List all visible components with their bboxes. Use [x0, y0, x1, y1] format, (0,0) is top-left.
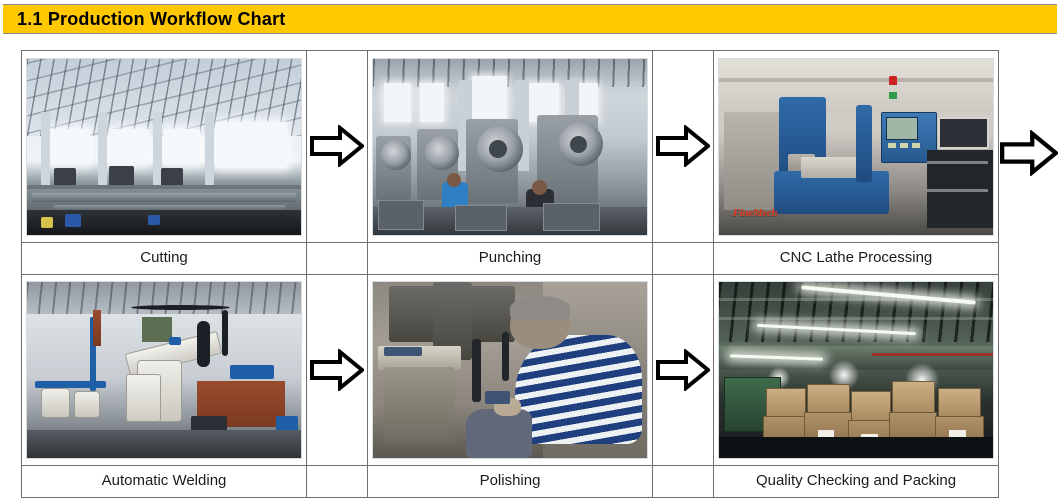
section-title-banner: 1.1 Production Workflow Chart: [3, 4, 1057, 34]
arrow-cell-3: [307, 274, 368, 466]
machine-guard: [856, 105, 872, 182]
machine-brand-logo: FineMech: [733, 207, 778, 219]
arrow-cell-4: [653, 274, 714, 466]
rack-shelf: [927, 189, 987, 192]
step-caption: Cutting: [22, 246, 306, 271]
flow-arrow-4: [653, 275, 713, 466]
column: [205, 112, 214, 186]
table-row: [22, 274, 999, 466]
window: [49, 129, 90, 164]
wall: [719, 59, 993, 112]
step-caption: CNC Lathe Processing: [714, 246, 998, 271]
equipment-frame: [35, 381, 106, 388]
right-block-arrow-icon: [656, 349, 710, 391]
arrow-cell-2: [653, 51, 714, 243]
photo-cell-packing: [714, 274, 999, 466]
floor-line: [27, 185, 301, 189]
step-caption: Polishing: [368, 469, 652, 494]
arrow-cell-1: [307, 51, 368, 243]
right-block-arrow-icon: [1000, 130, 1058, 176]
welding-cable: [222, 310, 228, 356]
production-workflow-table: FineMech Cutting Punching CNC Lathe Proc…: [21, 50, 999, 498]
carton: [851, 391, 891, 421]
robot-joint: [126, 374, 161, 422]
cutting-rail: [32, 193, 295, 202]
monitor: [938, 117, 989, 149]
spindle: [502, 332, 509, 381]
flywheel: [381, 140, 411, 170]
window: [216, 122, 287, 168]
signal-lamp-green: [889, 92, 897, 99]
panel-button: [912, 143, 920, 148]
photo-cutting: [26, 58, 302, 236]
caption-cell-welding: Automatic Welding: [22, 466, 307, 498]
photo-punching: [372, 58, 648, 236]
flow-arrow-3: [307, 275, 367, 466]
spindle: [472, 339, 481, 402]
parts-crate: [455, 205, 506, 232]
page-title: 1.1 Production Workflow Chart: [3, 9, 286, 30]
flow-arrow-1: [307, 51, 367, 242]
caption-row: Cutting Punching CNC Lathe Processing: [22, 242, 999, 274]
worker-trousers: [466, 409, 532, 458]
ceiling-pipe: [719, 78, 993, 82]
step-caption: Punching: [368, 246, 652, 271]
parts-crate: [378, 200, 424, 230]
right-block-arrow-icon: [310, 125, 364, 167]
photo-polishing: [372, 281, 648, 459]
photo-cnc-lathe: FineMech: [718, 58, 994, 236]
caption-cell-cnc: CNC Lathe Processing: [714, 242, 999, 274]
panel-button: [900, 143, 908, 148]
machine-base: [384, 367, 455, 444]
right-block-arrow-icon: [656, 125, 710, 167]
signal-lamp-red: [889, 76, 897, 85]
column: [98, 112, 107, 186]
torch-feeder: [197, 321, 210, 367]
floor: [719, 437, 993, 458]
photo-cell-welding: [22, 274, 307, 466]
cnc-screen: [886, 117, 918, 140]
carton: [807, 384, 850, 414]
photo-cell-cnc: FineMech: [714, 51, 999, 243]
floor: [27, 430, 301, 458]
flow-arrow-2: [653, 51, 713, 242]
photo-cell-cutting: [22, 51, 307, 243]
caption-row: Automatic Welding Polishing Quality Chec…: [22, 466, 999, 498]
carton: [938, 388, 981, 418]
production-workflow-page: 1.1 Production Workflow Chart: [0, 0, 1060, 498]
caption-cell-spacer-3: [307, 466, 368, 498]
worker-head: [447, 173, 461, 187]
red-stripe: [872, 353, 993, 356]
blue-machine: [230, 365, 274, 379]
blue-drum: [65, 214, 81, 227]
step-caption: Quality Checking and Packing: [714, 468, 998, 494]
robot-badge: [169, 337, 181, 345]
photo-automatic-welding: [26, 281, 302, 459]
yellow-crate: [41, 217, 53, 228]
worker-striped-shirt: [515, 335, 641, 444]
support-post: [93, 310, 101, 345]
window: [472, 76, 508, 122]
window: [384, 83, 411, 122]
green-door: [142, 317, 172, 342]
roof-beam: [719, 317, 993, 320]
worker-head: [532, 180, 547, 195]
photo-cell-punching: [368, 51, 653, 243]
photo-cell-polishing: [368, 274, 653, 466]
caption-cell-packing: Quality Checking and Packing: [714, 466, 999, 498]
roof-trusses: [27, 282, 301, 317]
rack-shelf: [927, 161, 987, 164]
flow-arrow-trailing: [1000, 130, 1058, 178]
workpiece: [485, 391, 510, 403]
blue-drum: [148, 215, 160, 225]
caption-cell-polishing: Polishing: [368, 466, 653, 498]
flywheel: [425, 136, 459, 170]
photo-quality-checking-packing: [718, 281, 994, 459]
caption-cell-spacer-2: [653, 242, 714, 274]
table-row: FineMech: [22, 51, 999, 243]
worker-hair: [510, 296, 570, 321]
control-box: [41, 388, 70, 418]
workpiece: [384, 347, 422, 356]
panel-button: [888, 143, 896, 148]
caption-cell-spacer-1: [307, 242, 368, 274]
right-block-arrow-icon: [310, 349, 364, 391]
roof-trusses: [373, 59, 647, 87]
carton: [766, 388, 806, 418]
window: [164, 129, 200, 164]
step-caption: Automatic Welding: [22, 469, 306, 494]
carton: [892, 381, 935, 415]
caption-cell-punching: Punching: [368, 242, 653, 274]
control-box: [74, 391, 101, 418]
window: [109, 129, 147, 164]
parts-crate: [543, 203, 600, 231]
caption-cell-cutting: Cutting: [22, 242, 307, 274]
window: [420, 83, 445, 122]
column: [41, 112, 50, 186]
caption-cell-spacer-4: [653, 466, 714, 498]
